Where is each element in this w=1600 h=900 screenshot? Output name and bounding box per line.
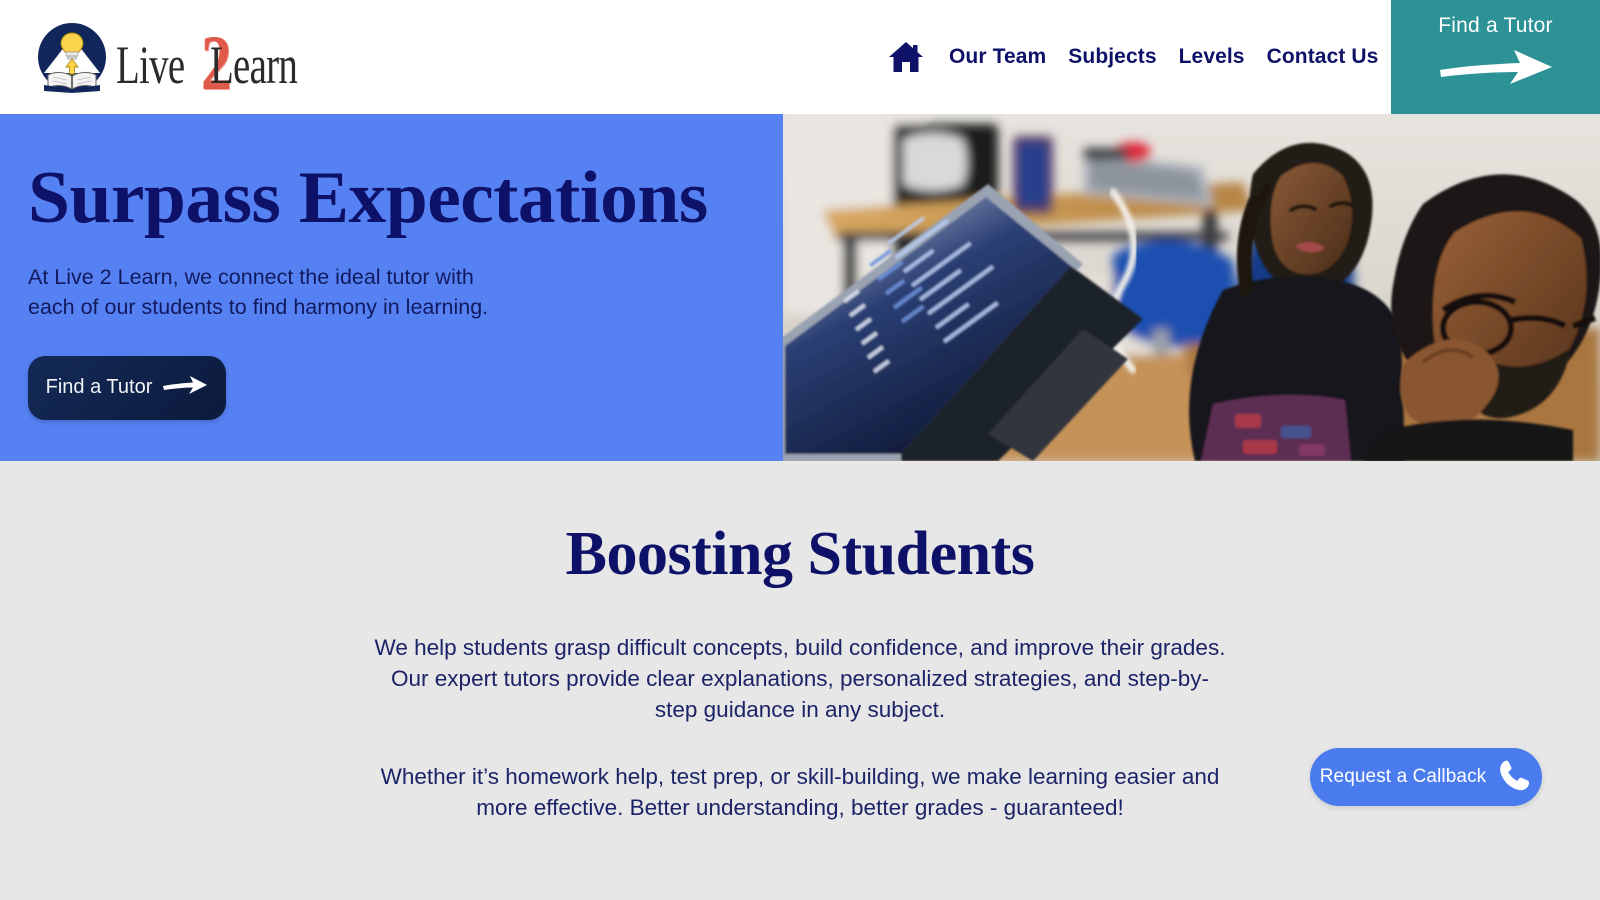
arrow-right-icon: [1436, 44, 1556, 95]
nav-item-levels[interactable]: Levels: [1168, 45, 1256, 69]
main-navigation: Our Team Subjects Levels Contact Us: [884, 0, 1389, 114]
phone-icon: [1496, 757, 1532, 798]
header-find-a-tutor-button[interactable]: Find a Tutor: [1391, 0, 1600, 114]
hero-text-panel: Surpass Expectations At Live 2 Learn, we…: [0, 114, 783, 461]
section-paragraph-2: Whether it’s homework help, test prep, o…: [370, 762, 1230, 824]
section-paragraph-1: We help students grasp difficult concept…: [370, 633, 1230, 725]
hero-find-a-tutor-label: Find a Tutor: [46, 376, 153, 399]
logo-word-learn: Learn: [210, 34, 297, 96]
site-logo[interactable]: Live 2 Learn: [34, 10, 331, 104]
header-find-a-tutor-label: Find a Tutor: [1438, 14, 1552, 38]
logo-wordmark: Live 2 Learn: [116, 12, 331, 102]
logo-word-live: Live: [116, 34, 184, 96]
hero-find-a-tutor-button[interactable]: Find a Tutor: [28, 356, 226, 420]
home-icon[interactable]: [884, 35, 928, 79]
hero-section: Surpass Expectations At Live 2 Learn, we…: [0, 114, 1600, 461]
lightbulb-book-logo-icon: [34, 19, 110, 95]
site-header: Live 2 Learn Our Team Subjects Levels Co…: [0, 0, 1600, 114]
nav-item-subjects[interactable]: Subjects: [1057, 45, 1167, 69]
nav-item-contact-us[interactable]: Contact Us: [1256, 45, 1390, 69]
hero-title: Surpass Expectations: [28, 162, 798, 235]
nav-item-our-team[interactable]: Our Team: [938, 45, 1057, 69]
hero-subtitle: At Live 2 Learn, we connect the ideal tu…: [28, 262, 783, 323]
section-title: Boosting Students: [0, 523, 1600, 585]
page-root: Live 2 Learn Our Team Subjects Levels Co…: [0, 0, 1600, 900]
request-callback-button[interactable]: Request a Callback: [1310, 748, 1542, 806]
hero-photo: [783, 114, 1600, 461]
request-callback-label: Request a Callback: [1320, 766, 1487, 788]
arrow-right-icon: [162, 374, 208, 401]
boosting-students-section: Boosting Students We help students grasp…: [0, 461, 1600, 900]
